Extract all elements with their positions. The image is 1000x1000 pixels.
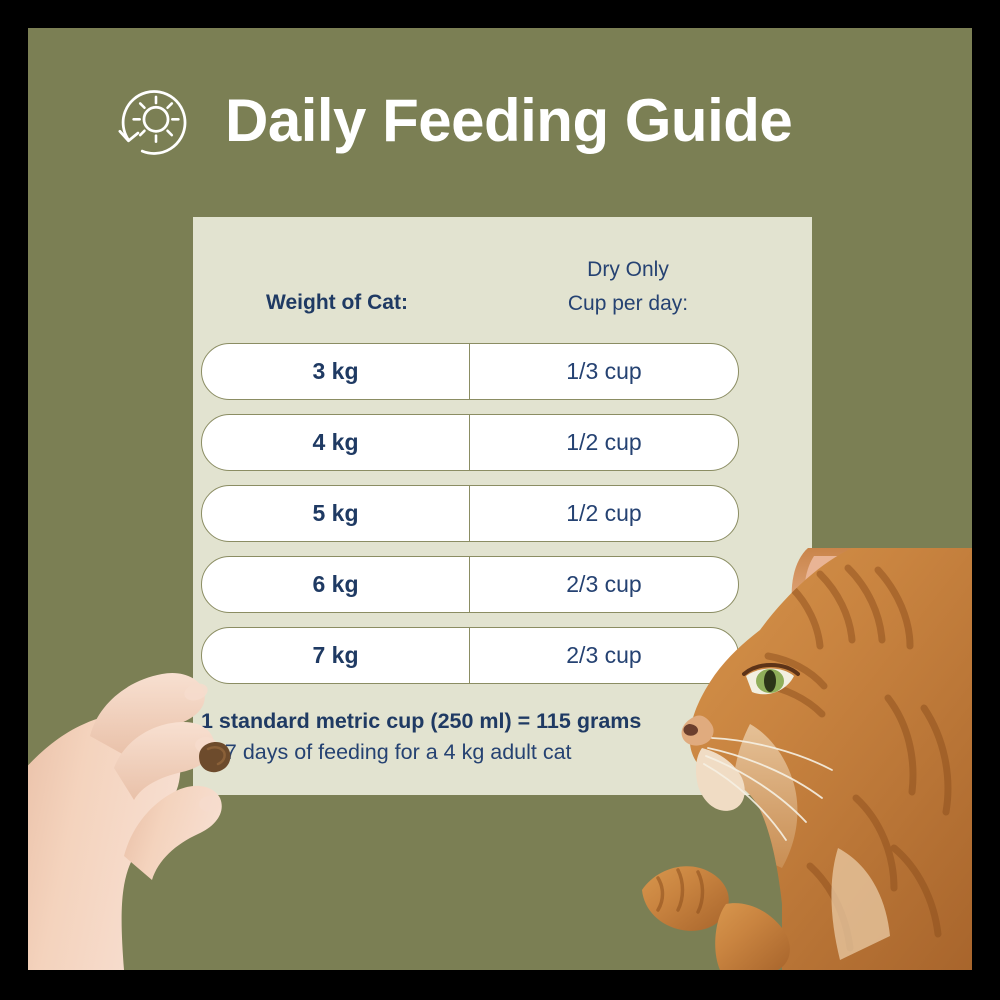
column-header-amount-line1: Dry Only	[478, 253, 778, 287]
cell-amount: 2/3 cup	[470, 557, 738, 612]
cell-weight: 6 kg	[202, 557, 470, 612]
table-row: 4 kg 1/2 cup	[201, 414, 739, 471]
table-row: 7 kg 2/3 cup	[201, 627, 739, 684]
cell-weight: 5 kg	[202, 486, 470, 541]
column-header-amount: Dry Only Cup per day:	[478, 253, 778, 321]
column-header-amount-line2: Cup per day:	[478, 287, 778, 321]
column-header-weight: Weight of Cat:	[201, 291, 473, 315]
table-row: 3 kg 1/3 cup	[201, 343, 739, 400]
footnotes: 1 standard metric cup (250 ml) = 115 gra…	[201, 706, 761, 768]
footnote-days-of-feeding: 347 days of feeding for a 4 kg adult cat	[201, 736, 761, 768]
cell-weight: 4 kg	[202, 415, 470, 470]
cell-amount: 1/2 cup	[470, 486, 738, 541]
table-row: 5 kg 1/2 cup	[201, 485, 739, 542]
cell-amount: 1/3 cup	[470, 344, 738, 399]
cell-weight: 7 kg	[202, 628, 470, 683]
table-row: 6 kg 2/3 cup	[201, 556, 739, 613]
footnote-cup-conversion: 1 standard metric cup (250 ml) = 115 gra…	[201, 706, 761, 736]
page-title: Daily Feeding Guide	[225, 91, 792, 151]
sun-refresh-icon	[113, 78, 199, 164]
cell-weight: 3 kg	[202, 344, 470, 399]
poster-canvas: Daily Feeding Guide	[28, 28, 972, 970]
feeding-table-rows: 3 kg 1/3 cup 4 kg 1/2 cup 5 kg 1/2 cup 6…	[201, 343, 739, 684]
table-header: Weight of Cat: Dry Only Cup per day:	[193, 239, 812, 329]
feeding-guide-card: Weight of Cat: Dry Only Cup per day: 3 k…	[193, 217, 812, 795]
cell-amount: 1/2 cup	[470, 415, 738, 470]
cell-amount: 2/3 cup	[470, 628, 738, 683]
header: Daily Feeding Guide	[113, 78, 792, 164]
poster-frame: Daily Feeding Guide	[0, 0, 1000, 1000]
